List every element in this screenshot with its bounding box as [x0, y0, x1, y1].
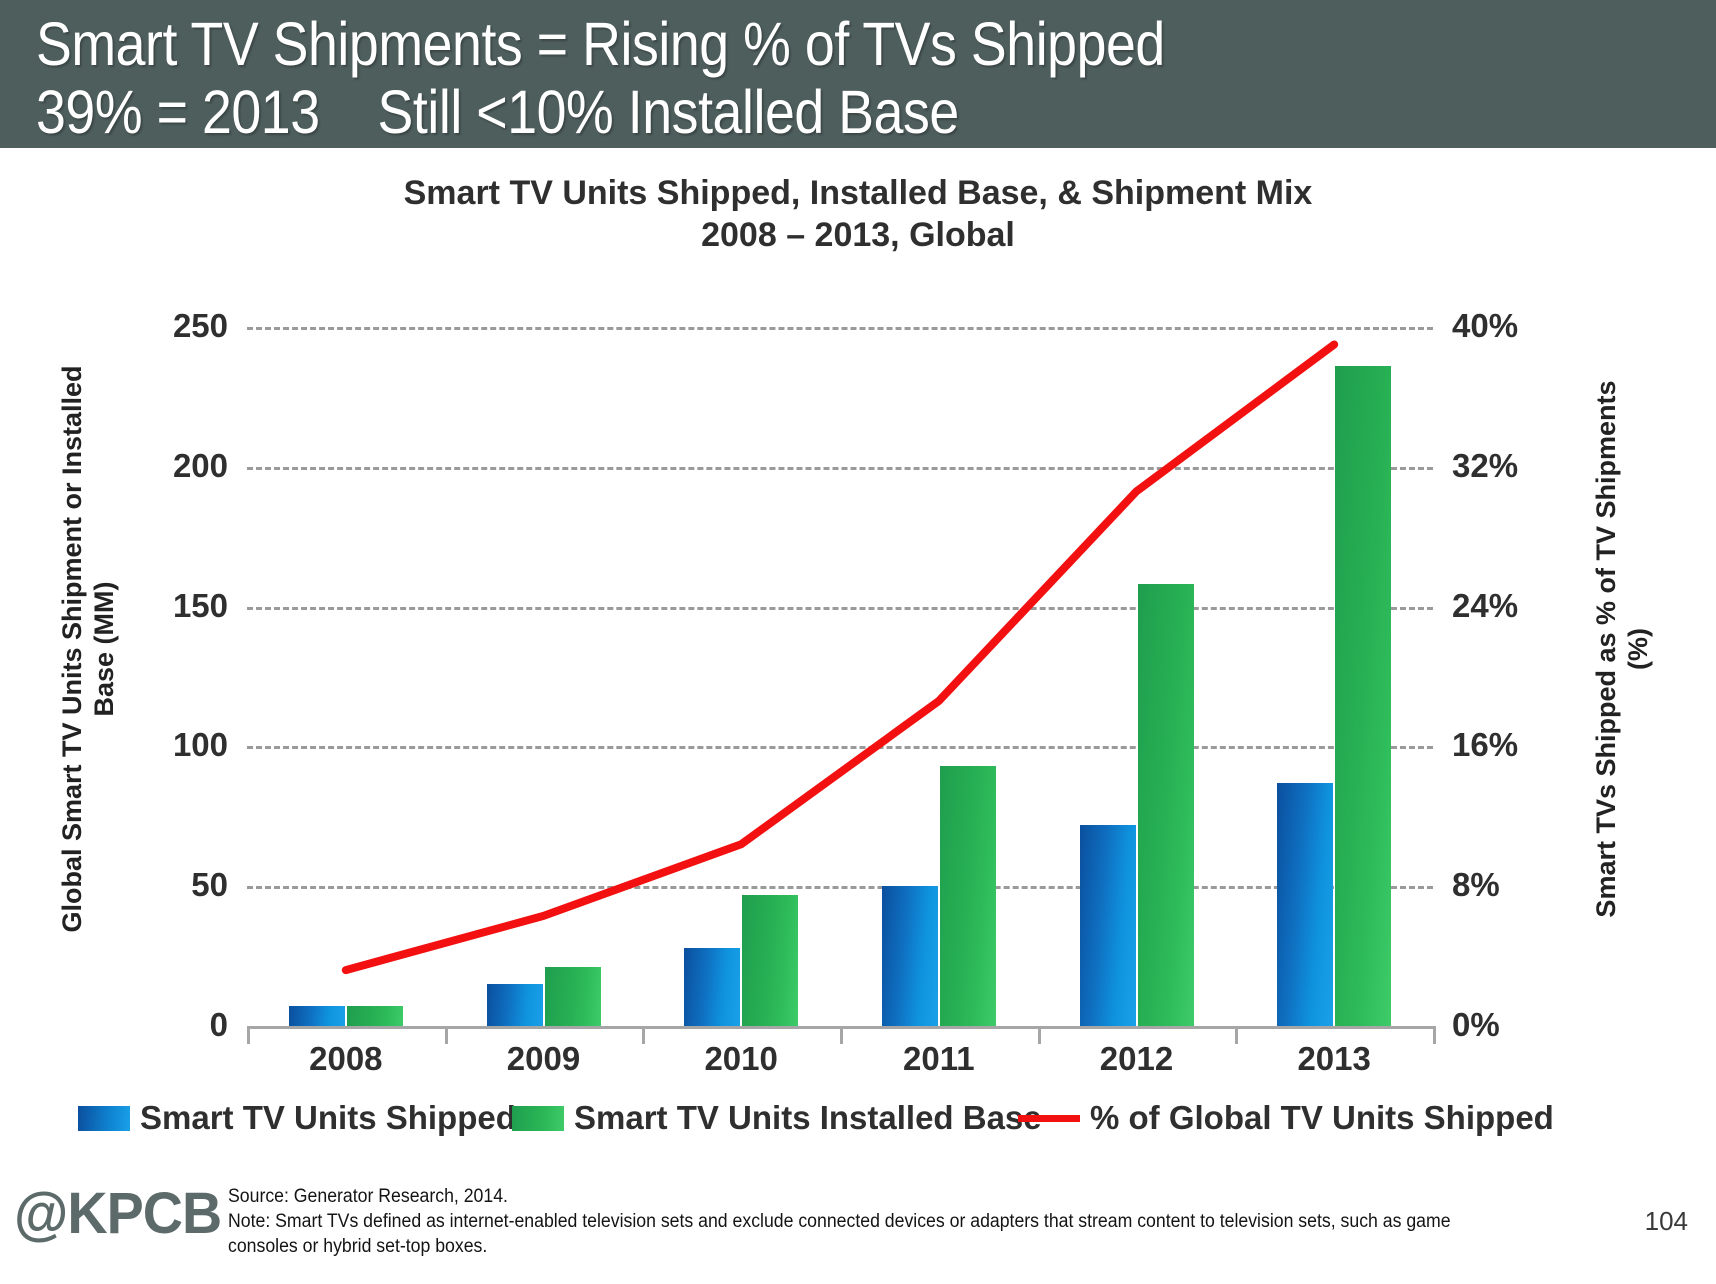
x-category-label: 2011	[839, 1040, 1039, 1078]
legend-item[interactable]: % of Global TV Units Shipped	[1018, 1098, 1554, 1138]
chart-title-line1: Smart TV Units Shipped, Installed Base, …	[404, 174, 1313, 212]
x-category-label: 2010	[641, 1040, 841, 1078]
gridline	[247, 886, 1433, 889]
x-category-label: 2009	[444, 1040, 644, 1078]
legend-label: Smart TV Units Shipped	[140, 1099, 516, 1137]
x-category-label: 2012	[1037, 1040, 1237, 1078]
chart-title: Smart TV Units Shipped, Installed Base, …	[0, 172, 1716, 256]
left-axis-title: Global Smart TV Units Shipment or Instal…	[56, 299, 120, 999]
bar-installed-base	[347, 1006, 403, 1026]
footnotes: Source: Generator Research, 2014. Note: …	[228, 1184, 1502, 1259]
chart-title-line2: 2008 – 2013, Global	[0, 214, 1716, 256]
right-axis-title: Smart TVs Shipped as % of TV Shipments (…	[1590, 299, 1654, 999]
plot-area	[247, 327, 1433, 1026]
left-tick-label: 250	[118, 307, 228, 345]
bar-installed-base	[1335, 366, 1391, 1026]
right-tick-label: 8%	[1452, 866, 1572, 904]
bar-units-shipped	[684, 948, 740, 1026]
legend-item[interactable]: Smart TV Units Installed Base	[512, 1098, 1042, 1138]
chart-legend: Smart TV Units ShippedSmart TV Units Ins…	[0, 1098, 1716, 1142]
left-tick-label: 150	[118, 587, 228, 625]
header-title-line2: 39% = 2013 Still <10% Installed Base	[36, 82, 959, 143]
left-tick-label: 0	[118, 1006, 228, 1044]
bar-units-shipped	[289, 1006, 345, 1026]
left-tick-label: 100	[118, 726, 228, 764]
right-tick-label: 32%	[1452, 447, 1572, 485]
legend-line-swatch	[1018, 1115, 1080, 1122]
right-axis-title-line2: (%)	[1622, 299, 1654, 999]
bar-installed-base	[545, 967, 601, 1026]
right-tick-label: 24%	[1452, 587, 1572, 625]
left-tick-label: 50	[118, 866, 228, 904]
legend-label: % of Global TV Units Shipped	[1090, 1099, 1554, 1137]
left-axis-title-line2: Base (MM)	[88, 299, 120, 999]
bar-units-shipped	[1277, 783, 1333, 1026]
slide-header-banner: Smart TV Shipments = Rising % of TVs Shi…	[0, 0, 1716, 148]
x-category-label: 2013	[1234, 1040, 1434, 1078]
gridline	[247, 327, 1433, 330]
bar-units-shipped	[487, 984, 543, 1026]
right-tick-label: 40%	[1452, 307, 1572, 345]
bar-units-shipped	[882, 886, 938, 1026]
gridline	[247, 467, 1433, 470]
definition-note: Note: Smart TVs defined as internet-enab…	[228, 1209, 1502, 1259]
x-category-label: 2008	[246, 1040, 446, 1078]
right-tick-label: 16%	[1452, 726, 1572, 764]
header-title-line1: Smart TV Shipments = Rising % of TVs Shi…	[36, 14, 1165, 75]
left-tick-label: 200	[118, 447, 228, 485]
bar-installed-base	[1138, 584, 1194, 1026]
kpcb-logo: @KPCB	[14, 1185, 221, 1243]
gridline	[247, 607, 1433, 610]
legend-item[interactable]: Smart TV Units Shipped	[78, 1098, 516, 1138]
gridline	[247, 746, 1433, 749]
legend-color-swatch	[512, 1106, 564, 1131]
page-number: 104	[1645, 1206, 1688, 1237]
bar-installed-base	[940, 766, 996, 1026]
right-axis-title-line1: Smart TVs Shipped as % of TV Shipments	[1590, 299, 1622, 999]
left-axis-title-line1: Global Smart TV Units Shipment or Instal…	[56, 299, 88, 999]
bar-installed-base	[742, 895, 798, 1026]
right-tick-label: 0%	[1452, 1006, 1572, 1044]
source-note: Source: Generator Research, 2014.	[228, 1184, 1502, 1209]
bar-units-shipped	[1080, 825, 1136, 1026]
legend-label: Smart TV Units Installed Base	[574, 1099, 1042, 1137]
legend-color-swatch	[78, 1106, 130, 1131]
